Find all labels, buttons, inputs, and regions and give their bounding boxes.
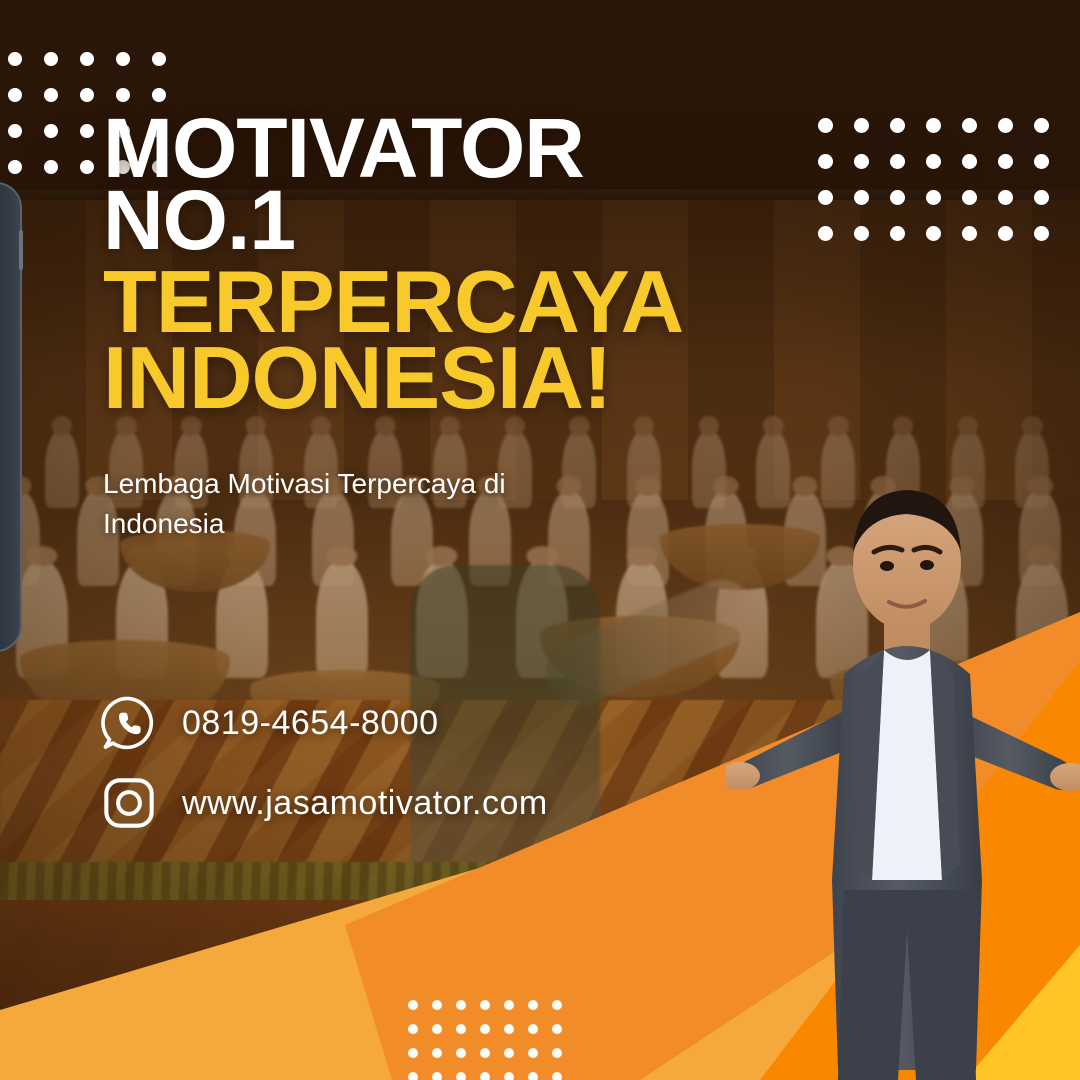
decor-dot (480, 1072, 490, 1080)
decor-dot (528, 1024, 538, 1034)
decor-dot (926, 118, 941, 133)
decor-dot (1034, 154, 1049, 169)
decor-dot (80, 124, 94, 138)
decor-dot (456, 1000, 466, 1010)
phone-mockup (0, 182, 22, 652)
phone-side-button (19, 230, 23, 270)
decor-dot (8, 52, 22, 66)
decor-dot (504, 1024, 514, 1034)
headline-line-2: NO.1 (103, 184, 903, 256)
presenter-eye-left (880, 561, 894, 571)
decor-dot (456, 1072, 466, 1080)
decor-dot (926, 154, 941, 169)
decor-dot (116, 88, 130, 102)
decor-dot (44, 88, 58, 102)
decor-dot (80, 52, 94, 66)
decor-dot (1034, 118, 1049, 133)
decor-dot (116, 52, 130, 66)
decor-dot (432, 1048, 442, 1058)
decor-dot (44, 52, 58, 66)
decor-dot (456, 1048, 466, 1058)
subtitle: Lembaga Motivasi Terpercaya di Indonesia (103, 464, 623, 544)
decor-dot (504, 1048, 514, 1058)
presenter-shirt (872, 650, 942, 880)
decor-dot (8, 88, 22, 102)
decor-dot (504, 1072, 514, 1080)
headline-line-4: INDONESIA! (103, 340, 903, 416)
decor-dot (528, 1072, 538, 1080)
decor-dot (962, 190, 977, 205)
decor-dot (998, 118, 1013, 133)
decor-dot (152, 52, 166, 66)
decor-dot (432, 1072, 442, 1080)
decor-dot (552, 1048, 562, 1058)
phone-number: 0819-4654-8000 (182, 704, 439, 743)
decor-dot (480, 1000, 490, 1010)
decor-dot (44, 160, 58, 174)
decor-dot (552, 1000, 562, 1010)
decor-dot (408, 1048, 418, 1058)
dot-grid-bottom (408, 1000, 562, 1080)
decor-dot (528, 1048, 538, 1058)
promo-poster: MOTIVATOR NO.1 TERPERCAYA INDONESIA! Lem… (0, 0, 1080, 1080)
contact-row-phone[interactable]: 0819-4654-8000 (100, 694, 548, 752)
decor-dot (80, 88, 94, 102)
decor-dot (998, 190, 1013, 205)
decor-dot (432, 1024, 442, 1034)
decor-dot (480, 1048, 490, 1058)
decor-dot (962, 226, 977, 241)
headline: MOTIVATOR NO.1 TERPERCAYA INDONESIA! (103, 112, 903, 416)
decor-dot (408, 1072, 418, 1080)
decor-dot (44, 124, 58, 138)
contact-row-website[interactable]: www.jasamotivator.com (100, 774, 548, 832)
presenter-photo (726, 460, 1080, 1080)
decor-dot (456, 1024, 466, 1034)
decor-dot (552, 1072, 562, 1080)
decor-dot (998, 154, 1013, 169)
decor-dot (528, 1000, 538, 1010)
decor-dot (962, 154, 977, 169)
decor-dot (926, 190, 941, 205)
decor-dot (552, 1024, 562, 1034)
whatsapp-icon (100, 694, 158, 752)
decor-dot (1034, 190, 1049, 205)
decor-dot (962, 118, 977, 133)
decor-dot (8, 124, 22, 138)
decor-dot (480, 1024, 490, 1034)
decor-dot (926, 226, 941, 241)
decor-dot (80, 160, 94, 174)
website-url: www.jasamotivator.com (182, 784, 548, 823)
text-block: MOTIVATOR NO.1 TERPERCAYA INDONESIA! Lem… (103, 112, 903, 543)
decor-dot (504, 1000, 514, 1010)
decor-dot (998, 226, 1013, 241)
contact-list: 0819-4654-8000 www.jasamotivator.com (100, 694, 548, 854)
instagram-icon (100, 774, 158, 832)
decor-dot (152, 88, 166, 102)
decor-dot (408, 1024, 418, 1034)
decor-dot (408, 1000, 418, 1010)
decor-dot (432, 1000, 442, 1010)
decor-dot (1034, 226, 1049, 241)
presenter-eye-right (920, 560, 934, 570)
decor-dot (8, 160, 22, 174)
